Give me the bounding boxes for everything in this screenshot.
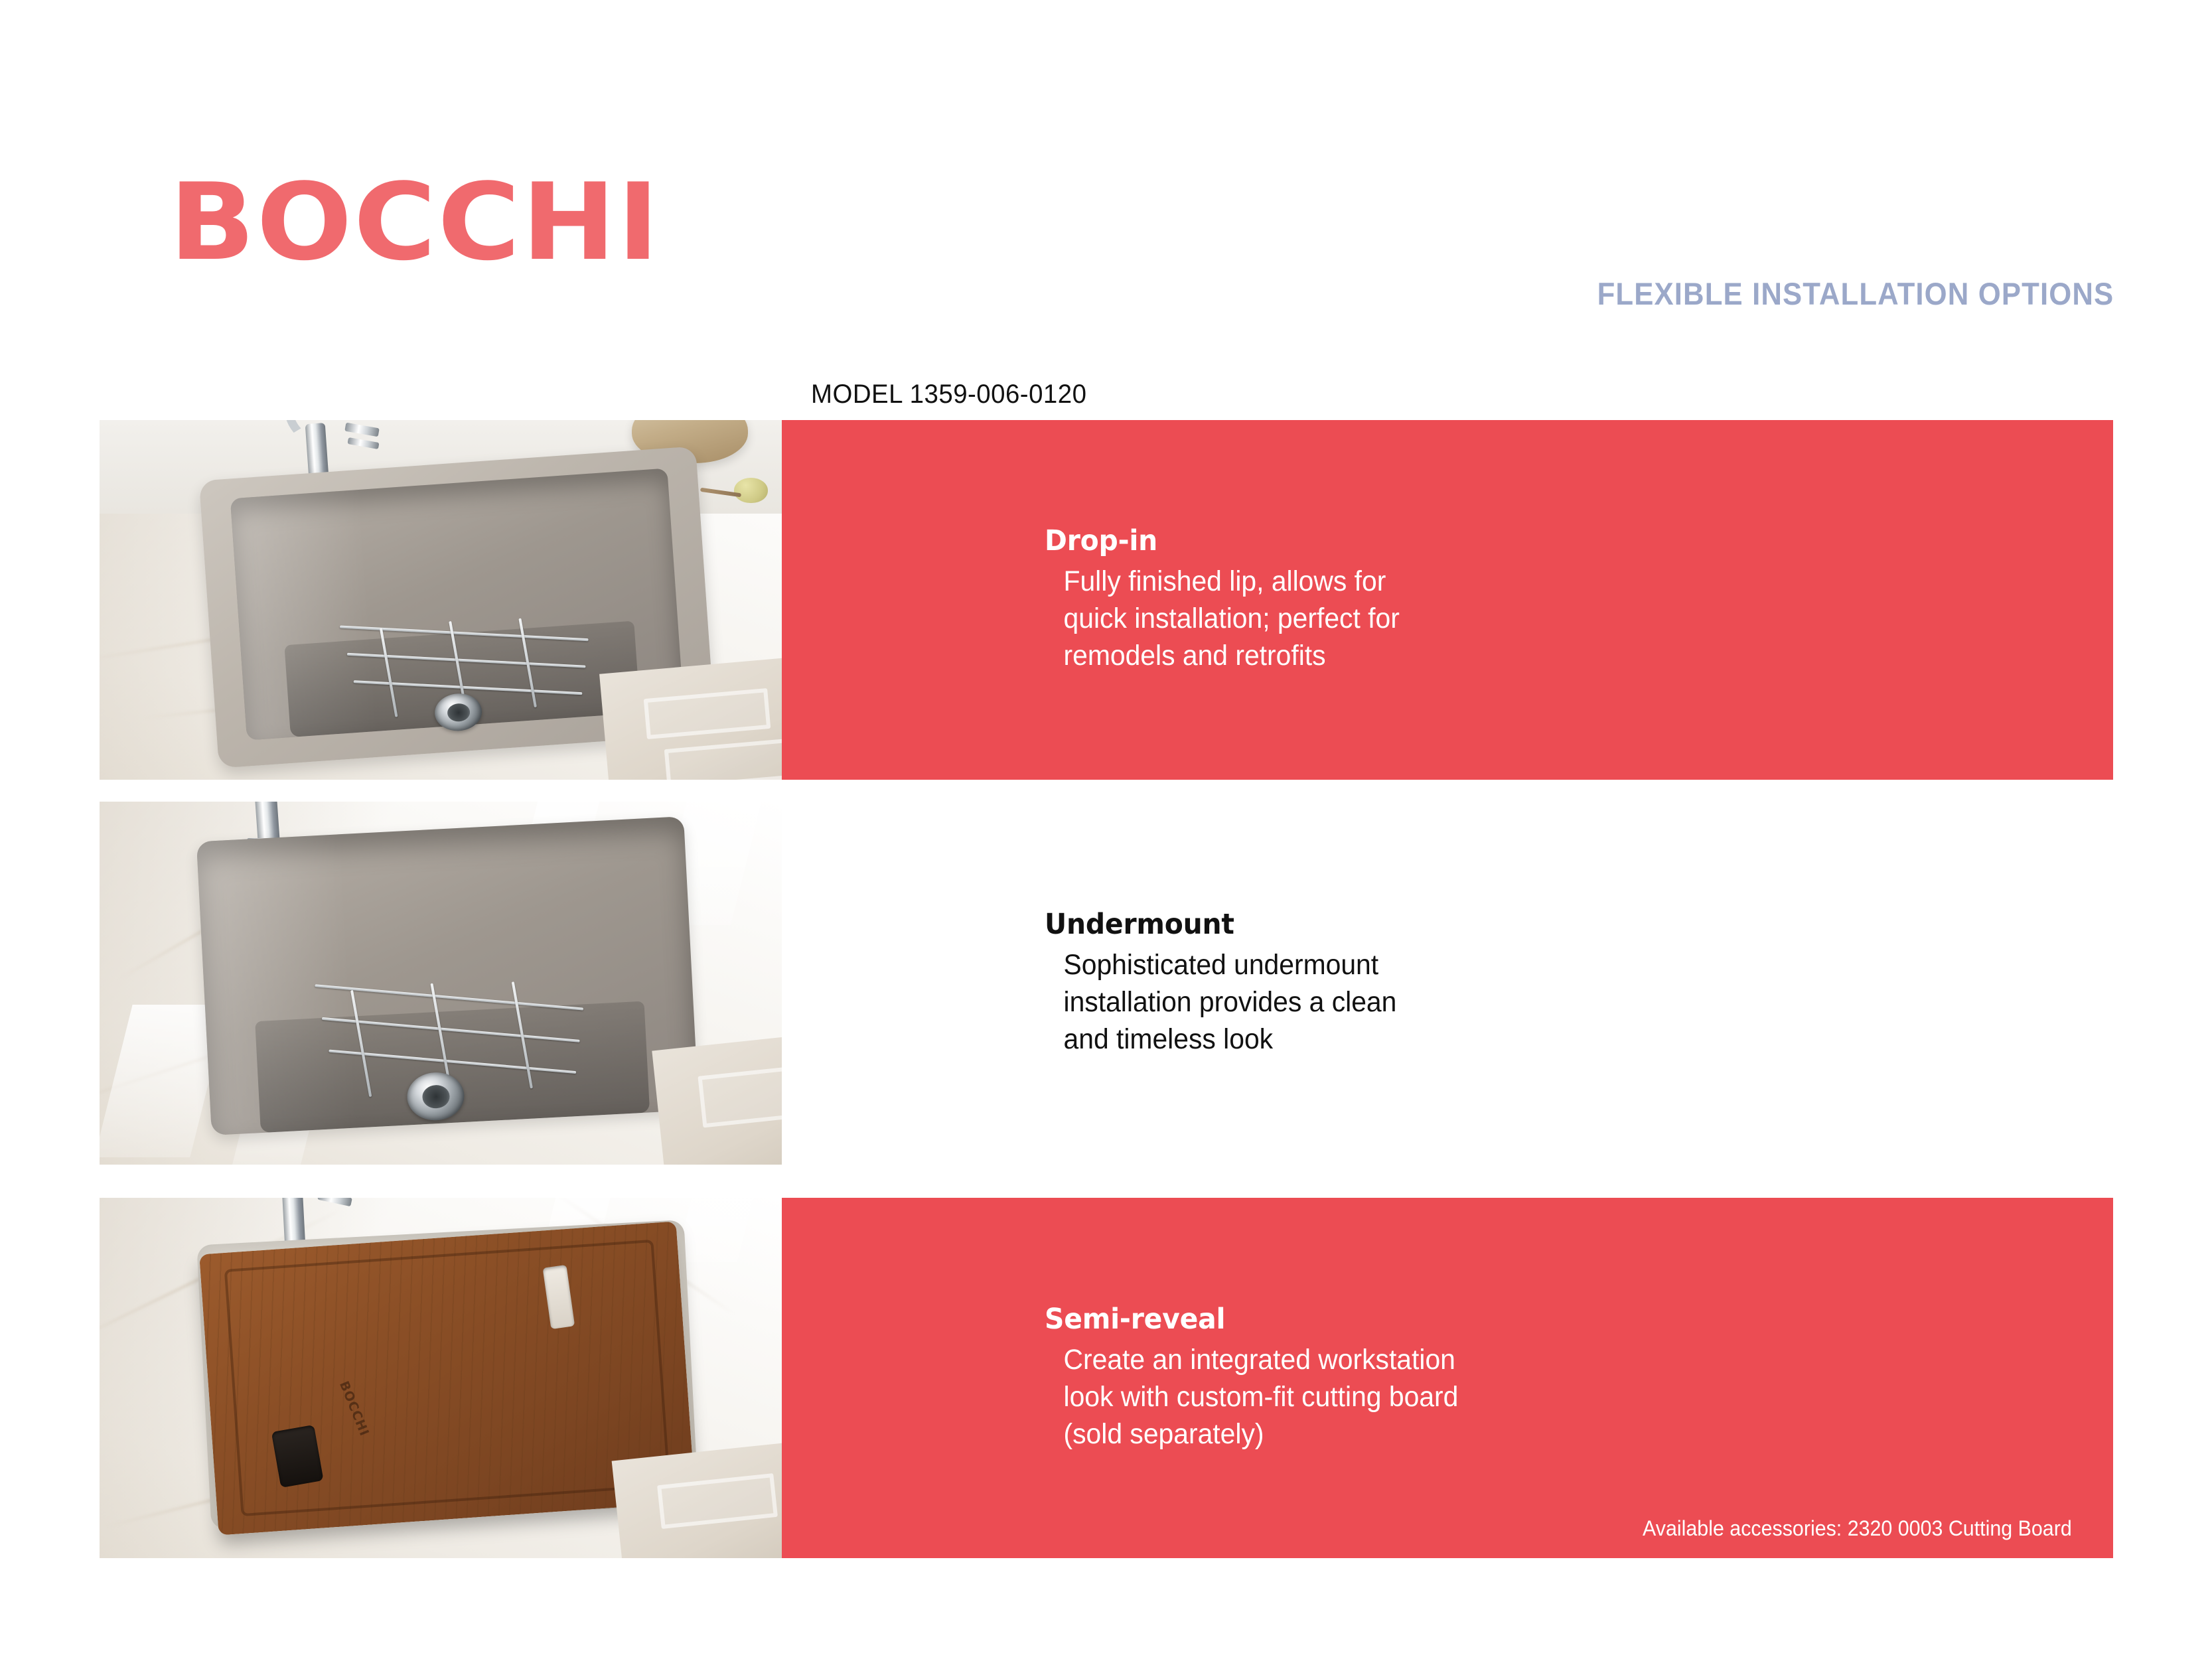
- row-body: Create an integrated workstation look wi…: [1045, 1342, 1990, 1453]
- panel-text-block: Semi-reveal Create an integrated worksta…: [1045, 1303, 2040, 1453]
- row-heading: Semi-reveal: [1045, 1303, 1990, 1335]
- sink-basin-undermount: [181, 803, 715, 1149]
- header-tagline: FLEXIBLE INSTALLATION OPTIONS: [1597, 275, 2114, 312]
- row-body-line: (sold separately): [1064, 1416, 1991, 1453]
- installation-row-drop-in: Drop-in Fully finished lip, allows for q…: [100, 420, 2113, 780]
- panel-text-block: Drop-in Fully finished lip, allows for q…: [1045, 525, 2040, 675]
- row-body: Sophisticated undermount installation pr…: [1045, 947, 1990, 1058]
- photo-semi-reveal: BOCCHI: [100, 1198, 782, 1558]
- undermount-scene: [100, 802, 782, 1165]
- row-body-line: quick installation; perfect for: [1064, 601, 1991, 638]
- row-body-line: Sophisticated undermount: [1064, 947, 1991, 984]
- row-body-line: installation provides a clean: [1064, 984, 1991, 1021]
- row-heading: Drop-in: [1045, 525, 1990, 557]
- row-body-line: Create an integrated workstation: [1064, 1342, 1991, 1379]
- photo-undermount: [100, 802, 782, 1165]
- row-body-line: look with custom-fit cutting board: [1064, 1379, 1991, 1416]
- row-body-line: remodels and retrofits: [1064, 638, 1991, 675]
- row-heading: Undermount: [1045, 908, 1990, 940]
- model-number-label: MODEL 1359-006-0120: [811, 380, 1086, 409]
- description-panel-semi-reveal: Semi-reveal Create an integrated worksta…: [782, 1198, 2113, 1558]
- description-panel-drop-in: Drop-in Fully finished lip, allows for q…: [782, 420, 2113, 780]
- brand-logo: BOCCHI: [169, 169, 660, 275]
- drop-in-scene: [100, 420, 782, 780]
- accessories-note: Available accessories: 2320 0003 Cutting…: [1643, 1516, 2072, 1541]
- pear: [734, 478, 768, 503]
- installation-row-semi-reveal: BOCCHI Semi-reveal Create an integrated …: [100, 1198, 2113, 1558]
- photo-drop-in: [100, 420, 782, 780]
- installation-row-undermount: Undermount Sophisticated undermount inst…: [100, 802, 2113, 1165]
- row-body: Fully finished lip, allows for quick ins…: [1045, 563, 1990, 675]
- semi-reveal-scene: BOCCHI: [100, 1198, 782, 1558]
- description-panel-undermount: Undermount Sophisticated undermount inst…: [782, 802, 2113, 1165]
- row-body-line: and timeless look: [1064, 1021, 1991, 1058]
- row-body-line: Fully finished lip, allows for: [1064, 563, 1991, 601]
- panel-text-block: Undermount Sophisticated undermount inst…: [1045, 908, 2040, 1058]
